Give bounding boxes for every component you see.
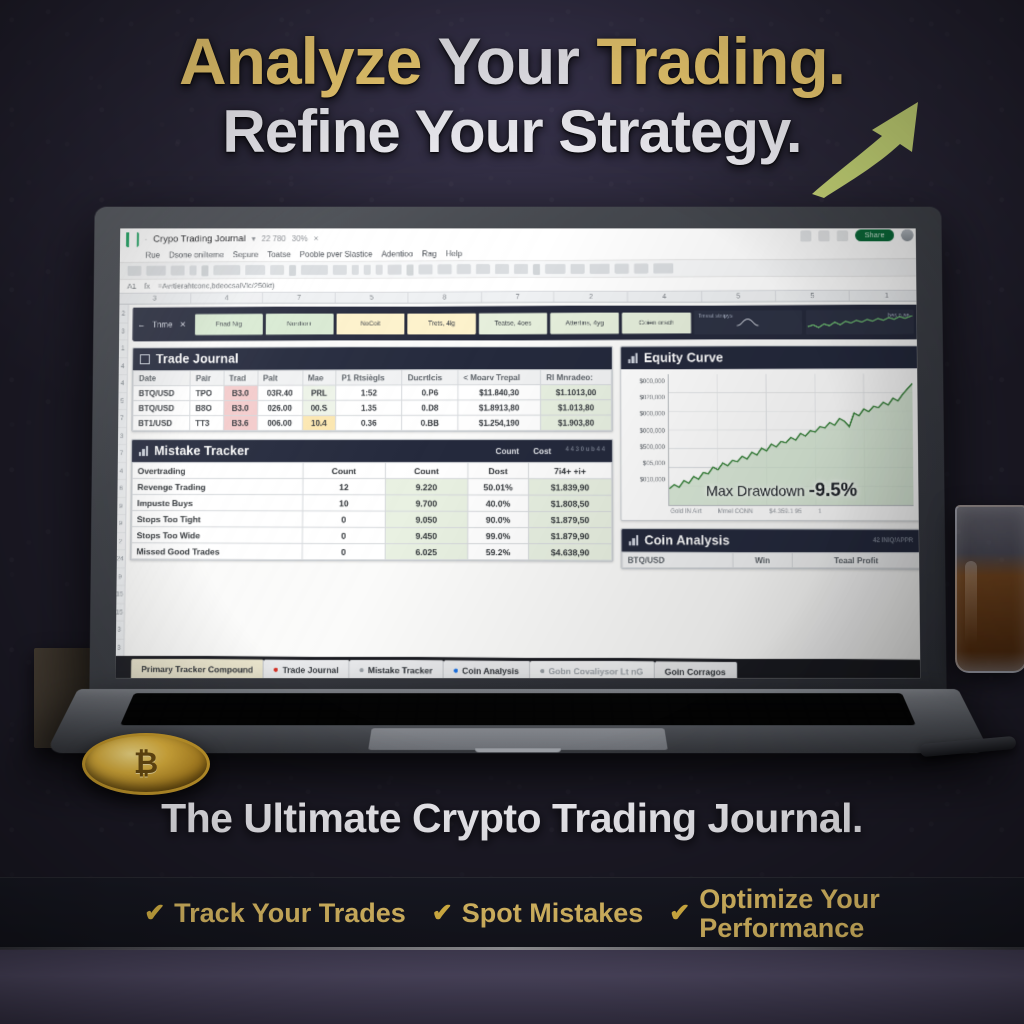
bar-chart-icon	[629, 535, 639, 545]
kpi-cell[interactable]: Teatse, 4oes	[479, 312, 548, 333]
column-header[interactable]: 5	[776, 291, 850, 301]
row-number[interactable]: 9	[116, 498, 125, 516]
tab-color-dot-icon	[540, 669, 544, 673]
cell-cost[interactable]: 99.0%	[468, 527, 529, 543]
mistake-tracker-title: Mistake Tracker	[154, 444, 249, 458]
tab-color-dot-icon	[274, 668, 278, 672]
toolbar-more-icon[interactable]	[653, 263, 673, 273]
table-header-row: BTQ/USD Win Teaal Profit	[622, 552, 920, 568]
cell-rr[interactable]: 1:52	[336, 385, 402, 400]
table-row[interactable]: Impuste Buys 10 9.700 40.0% $1.808,50	[132, 495, 612, 512]
cell-duration[interactable]: 0.BB	[402, 415, 458, 430]
trade-journal-table: Date Pair Trad Palt Mae P1 Rtsiègls Ducr…	[132, 369, 612, 431]
toolbar-align-icon[interactable]	[476, 264, 490, 274]
row-number[interactable]: 5	[118, 392, 127, 409]
headline-word-your: Your	[438, 24, 597, 98]
table-row[interactable]: BT1/USD TT3 B3.6 006.00 10.4 0.36 0.BB	[133, 415, 612, 430]
y-tick-label: $000,000	[625, 407, 668, 423]
cell-count2[interactable]: 9.220	[385, 479, 468, 495]
lid-notch	[475, 748, 561, 752]
toolbar-filter-icon[interactable]	[615, 264, 629, 274]
table-header-row: Date Pair Trad Palt Mae P1 Rtsiègls Ducr…	[133, 370, 611, 386]
keyboard[interactable]	[120, 693, 916, 725]
tab-color-dot-icon	[454, 669, 458, 673]
toolbar-chart-icon[interactable]	[590, 264, 610, 274]
cell-amount[interactable]: 7i4+ +i+	[528, 463, 611, 479]
cell-pair[interactable]: TT3	[190, 415, 224, 430]
equity-x-axis: Gold IN Airt Mmel CONN $4.359.1 95 1	[626, 506, 914, 519]
column-header-coin[interactable]: BTQ/USD	[622, 552, 732, 568]
benefit-label-line2: Performance	[699, 914, 880, 943]
sheet-tab-extra-2[interactable]: Goin Corragos	[654, 661, 737, 678]
equity-curve-panel: Equity Curve $000,000 $020,000 $	[620, 345, 920, 521]
coin-analysis-panel: Coin Analysis 42 INIQ/APPR BTQ/USD Win T	[620, 528, 920, 570]
row-number[interactable]: 2	[116, 533, 125, 551]
equity-y-axis: $000,000 $020,000 $000,000 $000,000 $500…	[625, 374, 668, 506]
column-header-duration[interactable]: Ducrtlcis	[402, 370, 458, 385]
column-header-mae[interactable]: Mae	[302, 370, 336, 385]
cell-profit[interactable]: $1.254,190	[458, 415, 541, 430]
column-header-total-profit[interactable]: Teaal Profit	[792, 553, 920, 569]
revision-label: 22 780	[262, 234, 286, 243]
row-number[interactable]: 9	[116, 568, 125, 586]
column-header[interactable]: 4	[628, 291, 702, 301]
toolbar-textcolor-icon[interactable]	[388, 265, 402, 275]
cell-pair[interactable]: B8O	[190, 400, 224, 415]
cell-profit[interactable]: $1.8913,80	[458, 400, 541, 415]
cell-mae[interactable]: 00.S	[302, 400, 336, 415]
menu-item-3[interactable]: Toatse	[267, 250, 291, 259]
dashboard-panels: Trade Journal Date Pair Trad Palt	[129, 345, 920, 570]
cell-count2[interactable]: 9.700	[385, 495, 468, 511]
sheet-tab-label: Coin Analysis	[462, 666, 519, 677]
mistake-tracker-panel: Mistake Tracker Count Cost 4 4 3 0 u b 4…	[129, 439, 613, 562]
toolbar-bold-icon[interactable]	[352, 265, 359, 275]
column-header-rr[interactable]: P1 Rtsiègls	[336, 370, 402, 385]
sheet-body: 2 3 1 4 4 5 7 3 7 4 6 9 9	[116, 302, 921, 678]
kpi-cell[interactable]: Coien orsch	[622, 312, 691, 333]
toolbar-font-select[interactable]	[301, 265, 328, 275]
cell-count[interactable]: 10	[303, 495, 386, 511]
x-tick-label: 1	[818, 509, 821, 515]
equity-curve-title: Equity Curve	[644, 351, 724, 365]
table-row[interactable]: Stops Too Tight 0 9.050 90.0% $1.879,50	[131, 511, 611, 528]
coin-analysis-badge: 42 INIQ/APPR	[873, 538, 913, 544]
menu-item-1[interactable]: Dsone onilteme	[169, 250, 224, 259]
formula-input[interactable]: =Avrtierahtconc,bdeocsalVlc/250kt)	[158, 281, 275, 290]
sheet-tab-primary-tracker[interactable]: Primary Tracker Compound	[131, 659, 264, 678]
toolbar-italic-icon[interactable]	[364, 265, 371, 275]
sheet-tab-label: Trade Journal	[282, 665, 338, 675]
cell-trad[interactable]: B3.0	[223, 385, 257, 400]
close-icon[interactable]: ×	[314, 234, 319, 243]
trade-journal-title: Trade Journal	[156, 352, 239, 366]
toolbar-divider	[202, 265, 209, 276]
coin-analysis-table: BTQ/USD Win Teaal Profit	[622, 552, 921, 569]
menu-item-5[interactable]: Adentioo	[381, 249, 413, 258]
titlebar-actions: Share	[800, 229, 917, 242]
toolbar-print-icon[interactable]	[171, 266, 185, 276]
toolbar-paint-icon[interactable]	[190, 265, 197, 275]
tagline-block: The Ultimate Crypto Trading Journal.	[0, 795, 1024, 842]
column-header[interactable]: 2	[555, 292, 628, 302]
sparkline-curve-icon	[735, 312, 784, 332]
sheet-tab-coin-analysis[interactable]: Coin Analysis	[444, 660, 530, 678]
cell-balance[interactable]: $1.1013,00	[541, 385, 612, 400]
footer-divider	[0, 947, 1024, 950]
mistake-tracker-header-cols: Count Cost 4 4 3 0 u b 4 4	[496, 446, 605, 455]
cell-mae[interactable]: PRL	[302, 385, 336, 400]
bar-chart-icon	[628, 353, 638, 363]
toolbar-redo-icon[interactable]	[146, 266, 166, 276]
x-tick-label: Mmel CONN	[718, 509, 753, 515]
cell-trad[interactable]: B3.0	[223, 400, 257, 415]
toolbar-link-icon[interactable]	[545, 264, 565, 274]
table-row[interactable]: Revenge Trading 12 9.220 50.01% $1.839,9…	[132, 479, 612, 496]
column-header-palt[interactable]: Palt	[258, 370, 303, 385]
sheet-tab-bar: Primary Tracker Compound Trade Journal M…	[116, 656, 921, 678]
whiskey-glass	[955, 505, 1024, 673]
headline-line-1: Analyze Your Trading.	[0, 28, 1024, 94]
menu-item-4[interactable]: Pooble pver Slastice	[300, 249, 373, 258]
bar-chart-icon	[139, 446, 148, 456]
cell-count[interactable]: 0	[302, 527, 385, 543]
sheet-canvas: ← Tnme ✕ Fnad Nig Nordtor+ NoCoit Trets,…	[124, 302, 920, 678]
footer-bar	[0, 950, 1024, 1024]
sparkline-label-box: Tmeat stnipys	[694, 310, 802, 335]
cell-profit[interactable]: $11.840,30	[458, 385, 541, 400]
mistake-tracker-table: Overtrading Count Count Dost 7i4+ +i+	[130, 462, 612, 561]
column-header-win[interactable]: Win	[732, 552, 792, 568]
kpi-strip: ← Tnme ✕ Fnad Nig Nordtor+ NoCoit Trets,…	[132, 305, 919, 341]
spreadsheet-app: · Crypo Trading Journal ▾ 22 780 30% × S…	[116, 228, 921, 678]
mistake-tracker-header: Mistake Tracker Count Cost 4 4 3 0 u b 4…	[132, 440, 612, 462]
x-tick-label: Gold IN Airt	[670, 509, 701, 515]
benefits-bar: ✔ Track Your Trades ✔ Spot Mistakes ✔ Op…	[0, 877, 1024, 949]
toolbar-undo-icon[interactable]	[127, 266, 141, 276]
equity-curve-header: Equity Curve	[621, 346, 918, 369]
y-tick-label: $000,000	[625, 423, 668, 439]
toolbar-strikethrough-icon[interactable]	[376, 265, 383, 275]
search-icon[interactable]	[837, 230, 848, 241]
zoom-level[interactable]: 30%	[292, 234, 308, 243]
cell-count2[interactable]: 9.050	[385, 511, 468, 527]
cell-palt[interactable]: 03R.40	[257, 385, 302, 400]
kpi-strip-label-group: ← Tnme ✕	[137, 320, 192, 329]
row-number[interactable]: 6	[117, 480, 126, 498]
toolbar-percent-icon[interactable]	[270, 265, 284, 275]
trackpad[interactable]	[368, 728, 668, 750]
cell-cost[interactable]: 40.0%	[468, 495, 529, 511]
back-arrow-icon[interactable]: ←	[137, 320, 145, 329]
bitcoin-glyph: ₿	[134, 747, 158, 781]
toolbar-currency-icon[interactable]	[245, 265, 265, 275]
toolbar-merge-icon[interactable]	[457, 264, 471, 274]
tab-color-dot-icon	[360, 668, 364, 672]
sheet-tab-label: Goin Corragos	[665, 667, 726, 678]
headline-word-analyze: Analyze	[179, 24, 438, 98]
column-header[interactable]: 7	[263, 293, 336, 303]
row-number[interactable]: 2	[119, 305, 128, 322]
table-row[interactable]: Missed Good Trades 0 6.025 59.2% $4.638,…	[131, 543, 612, 560]
toolbar-divider-3	[407, 264, 414, 275]
cell-trad[interactable]: B3.6	[223, 415, 257, 430]
title-bullet: ·	[145, 235, 148, 244]
row-number[interactable]: 1	[118, 340, 127, 357]
header-count: Count	[496, 446, 519, 455]
trade-journal-panel: Trade Journal Date Pair Trad Palt	[131, 346, 613, 432]
cell-cost[interactable]: Dost	[468, 463, 529, 479]
x-tick-label: $4.359.1 95	[769, 509, 802, 515]
column-header[interactable]: 5	[336, 292, 409, 302]
toolbar-fillcolor-icon[interactable]	[419, 264, 433, 274]
column-header-date[interactable]: Date	[133, 370, 190, 385]
laptop: · Crypo Trading Journal ▾ 22 780 30% × S…	[78, 205, 958, 795]
sparkline-label: Tmeat stnipys	[698, 313, 733, 319]
sheet-tab-label: Mistake Tracker	[368, 665, 433, 676]
bitcoin-coin: ₿	[82, 733, 210, 795]
row-number[interactable]: 15	[116, 586, 124, 604]
coin-analysis-title: Coin Analysis	[644, 533, 729, 547]
column-header[interactable]: 5	[702, 291, 776, 301]
cell-mistake-label[interactable]: Overtrading	[132, 463, 303, 479]
sheet-tab-label: Primary Tracker Compound	[141, 664, 253, 675]
cell-pair[interactable]: TPO	[190, 385, 224, 400]
benefit-item-track-trades: ✔ Track Your Trades	[144, 899, 406, 928]
benefit-label: Track Your Trades	[174, 899, 406, 928]
menu-item-7[interactable]: Help	[446, 249, 463, 258]
kpi-sparkline-group: Tmeat stnipys	[694, 309, 914, 335]
equity-plot-area: Max Drawdown -9.5%	[668, 374, 914, 507]
trade-journal-header: Trade Journal	[133, 347, 612, 370]
row-number[interactable]: 4	[118, 375, 127, 392]
cell-amount[interactable]: $4.638,90	[528, 544, 611, 561]
cell-count2[interactable]: Count	[385, 463, 468, 479]
cell-mae[interactable]: 10.4	[302, 415, 336, 430]
table-row[interactable]: BTQ/USD TPO B3.0 03R.40 PRL 1:52 0.P6	[133, 385, 611, 401]
sheet-tab-mistake-tracker[interactable]: Mistake Tracker	[350, 660, 444, 678]
row-number[interactable]: 4	[118, 358, 127, 375]
cell-balance[interactable]: $1.903,80	[541, 415, 612, 430]
tagline: The Ultimate Crypto Trading Journal.	[0, 795, 1024, 842]
check-icon: ✔	[669, 900, 690, 927]
cell-cost[interactable]: 50.01%	[468, 479, 529, 495]
row-number[interactable]: 4	[117, 463, 126, 481]
toolbar-comment-icon[interactable]	[570, 264, 584, 274]
cell-reference-box[interactable]: A1	[127, 282, 136, 291]
row-number[interactable]: 9	[116, 515, 125, 533]
cell-count2[interactable]: 9.450	[385, 527, 468, 543]
formula-fx-icon: fx	[144, 282, 150, 291]
y-tick-label: $010,000	[625, 472, 668, 488]
cell-count[interactable]: 0	[302, 543, 385, 559]
cell-cost[interactable]: 90.0%	[468, 511, 529, 527]
max-drawdown-annotation: Max Drawdown -9.5%	[706, 479, 857, 501]
kpi-cell[interactable]: Attertins, 4yg	[550, 312, 619, 333]
header-faint: 4 4 3 0 u b 4 4	[565, 446, 605, 455]
menu-item-6[interactable]: Rag	[422, 249, 437, 258]
laptop-screen: · Crypo Trading Journal ▾ 22 780 30% × S…	[116, 228, 921, 678]
cell-mistake-label[interactable]: Impuste Buys	[132, 495, 303, 511]
cell-date[interactable]: BTQ/USD	[133, 385, 190, 400]
y-tick-label: $020,000	[625, 390, 668, 406]
menu-item-2[interactable]: Sepure	[233, 250, 259, 259]
kpi-strip-label: Tnme	[152, 320, 172, 329]
benefit-label-group: Optimize Your Performance	[699, 885, 880, 942]
cell-count[interactable]: Count	[303, 463, 385, 479]
check-icon: ✔	[144, 900, 165, 927]
column-header-pair[interactable]: Pair	[190, 370, 224, 385]
laptop-lid: · Crypo Trading Journal ▾ 22 780 30% × S…	[89, 207, 946, 699]
check-icon: ✔	[432, 900, 453, 927]
title-dropdown-icon[interactable]: ▾	[252, 234, 256, 243]
table-icon	[140, 354, 150, 364]
table-row[interactable]: Overtrading Count Count Dost 7i4+ +i+	[132, 463, 612, 479]
cell-palt[interactable]: 006.00	[257, 415, 302, 430]
column-header-trad[interactable]: Trad	[224, 370, 258, 385]
cell-rr[interactable]: 0.36	[336, 415, 402, 430]
cell-cost[interactable]: 59.2%	[468, 544, 529, 560]
row-number[interactable]: 3	[117, 427, 126, 445]
cell-mistake-label[interactable]: Stops Too Tight	[131, 511, 302, 527]
cell-mistake-label[interactable]: Missed Good Trades	[131, 543, 302, 560]
row-number[interactable]: 24	[116, 550, 125, 568]
toolbar-zoom-select[interactable]	[213, 265, 240, 275]
document-title[interactable]: Crypo Trading Journal	[153, 233, 246, 244]
toolbar-fontsize-select[interactable]	[333, 265, 347, 275]
kpi-cell[interactable]: NoCoit	[336, 313, 404, 334]
cell-palt[interactable]: 026.00	[257, 400, 302, 415]
y-tick-label: $05,000	[625, 456, 668, 472]
toolbar-borders-icon[interactable]	[438, 264, 452, 274]
spreadsheet-logo-icon	[126, 232, 139, 247]
y-tick-label: $000,000	[625, 374, 668, 390]
cell-count[interactable]: 12	[303, 479, 385, 495]
max-drawdown-label: Max Drawdown	[706, 483, 805, 499]
cell-amount[interactable]: $1.879,90	[528, 528, 611, 544]
cell-amount[interactable]: $1.839,90	[528, 479, 611, 495]
sheet-tab-trade-journal[interactable]: Trade Journal	[264, 659, 350, 678]
left-column: Trade Journal Date Pair Trad Palt	[129, 346, 613, 569]
cell-amount[interactable]: $1.808,50	[528, 495, 611, 511]
cell-date[interactable]: BTQ/USD	[133, 400, 190, 415]
right-column: Equity Curve $000,000 $020,000 $	[620, 345, 920, 570]
benefit-label-line1: Optimize Your	[699, 885, 880, 914]
table-row[interactable]: Stops Too Wide 0 9.450 99.0% $1.879,90	[131, 527, 612, 544]
toolbar-divider-4	[533, 263, 540, 274]
cell-amount[interactable]: $1.879,50	[528, 511, 611, 527]
cell-mistake-label[interactable]: Stops Too Wide	[131, 527, 302, 543]
comment-icon[interactable]	[819, 230, 830, 241]
equity-curve-chart: $000,000 $020,000 $000,000 $000,000 $500…	[621, 369, 920, 521]
row-number[interactable]: 7	[117, 410, 126, 428]
toolbar-divider-2	[289, 265, 296, 276]
max-drawdown-value: -9.5%	[809, 480, 858, 500]
toolbar-wrap-icon[interactable]	[514, 264, 528, 274]
kpi-cell[interactable]: Nordtor+	[266, 313, 334, 334]
cell-duration[interactable]: 0.D8	[402, 400, 458, 415]
cell-mistake-label[interactable]: Revenge Trading	[132, 479, 303, 495]
column-header-balance[interactable]: Rl Mnradeo:	[541, 370, 612, 385]
column-header[interactable]: 4	[191, 293, 263, 303]
cell-count[interactable]: 0	[302, 511, 385, 527]
column-header[interactable]: 3	[119, 293, 191, 303]
share-button[interactable]: Share	[855, 229, 894, 241]
cell-rr[interactable]: 1.35	[336, 400, 402, 415]
sparkline-value: bes o ae	[888, 313, 910, 319]
row-number[interactable]: 15	[116, 604, 124, 622]
row-number[interactable]: 3	[116, 621, 124, 639]
close-icon[interactable]: ✕	[179, 320, 186, 329]
coin-analysis-header: Coin Analysis 42 INIQ/APPR	[622, 529, 921, 552]
benefit-label: Spot Mistakes	[462, 899, 644, 928]
sparkline-chart-box: bes o ae	[805, 310, 913, 335]
cell-duration[interactable]: 0.P6	[402, 385, 458, 400]
y-tick-label: $500,000	[625, 440, 668, 456]
column-header-profit[interactable]: < Moarv Trepal	[458, 370, 541, 385]
cell-count2[interactable]: 6.025	[385, 544, 468, 560]
sheet-tab-label: Gobn Covaliysor Lt nG	[548, 666, 643, 677]
header-cost: Cost	[533, 446, 551, 455]
cell-balance[interactable]: $1.013,80	[541, 400, 612, 415]
upward-trend-arrow-icon	[808, 86, 938, 201]
history-icon[interactable]	[800, 230, 811, 241]
row-number[interactable]: 3	[116, 639, 124, 657]
row-number[interactable]: 3	[119, 323, 128, 340]
cell-date[interactable]: BT1/USD	[133, 415, 190, 430]
sheet-tab-extra-1[interactable]: Gobn Covaliysor Lt nG	[530, 661, 654, 678]
toolbar-valign-icon[interactable]	[495, 264, 509, 274]
user-avatar-icon[interactable]	[901, 229, 913, 241]
kpi-cell[interactable]: Fnad Nig	[195, 313, 263, 334]
column-header[interactable]: 1	[850, 291, 920, 301]
column-header[interactable]: 7	[481, 292, 554, 302]
toolbar-functions-icon[interactable]	[634, 263, 648, 273]
row-number[interactable]: 7	[117, 445, 126, 463]
kpi-cell[interactable]: Trets, 4ig	[407, 313, 475, 334]
benefit-item-spot-mistakes: ✔ Spot Mistakes	[432, 899, 644, 928]
benefit-item-optimize-performance: ✔ Optimize Your Performance	[669, 885, 879, 942]
table-row[interactable]: BTQ/USD B8O B3.0 026.00 00.S 1.35 0.D8	[133, 400, 612, 416]
menu-item-0[interactable]: Rue	[145, 250, 160, 259]
column-header[interactable]: 8	[409, 292, 482, 302]
